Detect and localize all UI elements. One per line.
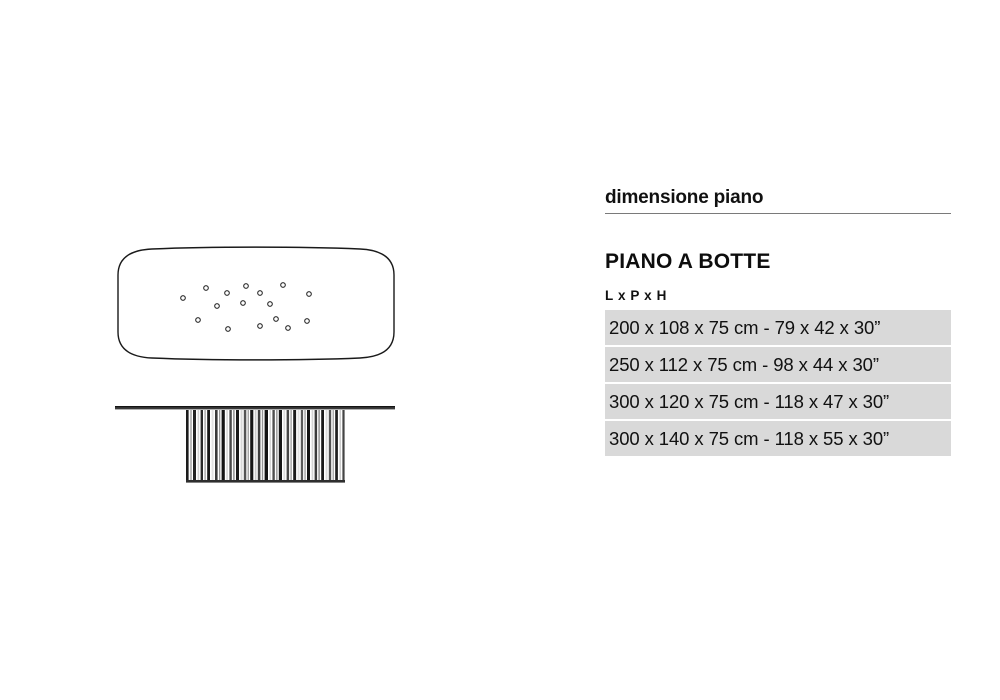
spec-dimension-legend: L x P x H [605,287,951,304]
dimension-cell: 200 x 108 x 75 cm - 79 x 42 x 30” [605,310,951,346]
dimension-cell: 300 x 140 x 75 cm - 118 x 55 x 30” [605,420,951,456]
tabletop-outline [118,247,394,360]
dimensions-table-body: 200 x 108 x 75 cm - 79 x 42 x 30” 250 x … [605,310,951,456]
table-row[interactable]: 300 x 120 x 75 cm - 118 x 47 x 30” [605,383,951,420]
table-row[interactable]: 300 x 140 x 75 cm - 118 x 55 x 30” [605,420,951,456]
dimension-cell: 300 x 120 x 75 cm - 118 x 47 x 30” [605,383,951,420]
product-technical-drawing [100,230,420,500]
dimension-cell: 250 x 112 x 75 cm - 98 x 44 x 30” [605,346,951,383]
specification-panel: dimensione piano PIANO A BOTTE L x P x H… [605,186,951,456]
table-top-plan-view [118,247,394,360]
spec-model-name: PIANO A BOTTE [605,249,951,275]
table-row[interactable]: 250 x 112 x 75 cm - 98 x 44 x 30” [605,346,951,383]
tabletop-edge-highlight [115,406,395,407]
table-side-elevation [115,406,395,483]
spec-title-divider [605,213,951,214]
table-row[interactable]: 200 x 108 x 75 cm - 79 x 42 x 30” [605,310,951,346]
rod-bundle-floor-bar [186,480,345,483]
spec-section-title: dimensione piano [605,186,951,213]
dimensions-table: 200 x 108 x 75 cm - 79 x 42 x 30” 250 x … [605,310,951,456]
rod-leg-bundle [186,410,345,482]
